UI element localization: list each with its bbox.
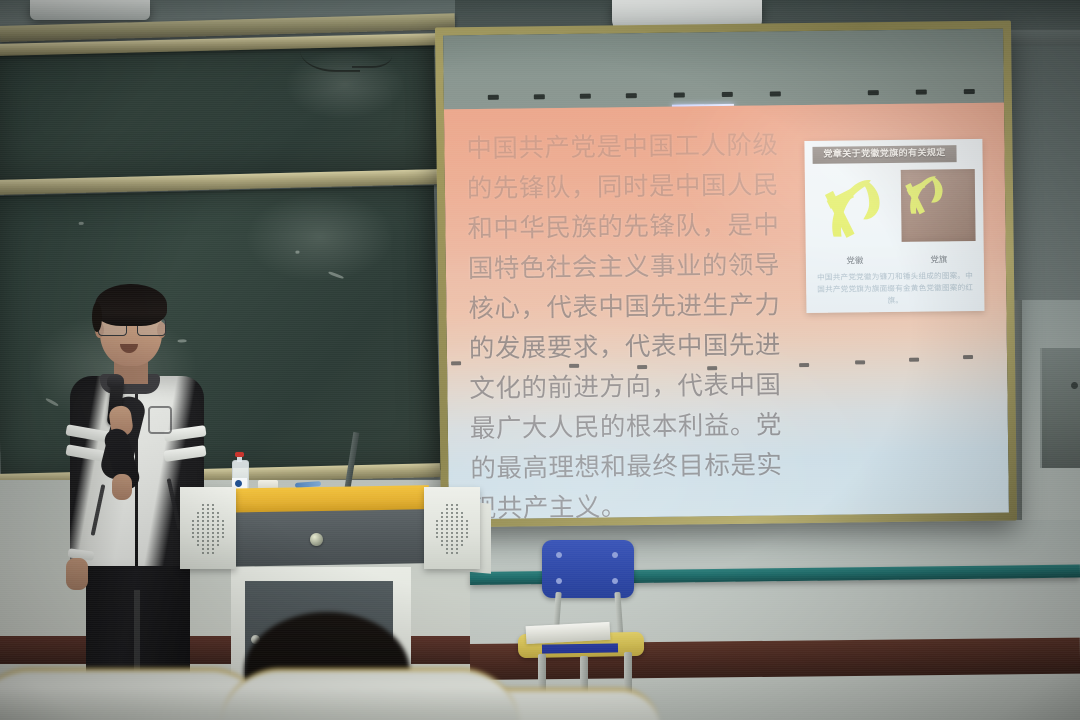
blackboard-upper-panel [0, 41, 437, 180]
podium-lock-icon[interactable] [310, 533, 323, 546]
slide-content: 中国共产党是中国工人阶级的先锋队，同时是中国人民和中华民族的先锋队，是中国特色社… [444, 103, 1009, 520]
presenter-hair [95, 284, 167, 326]
party-emblem-icon [819, 170, 890, 249]
slide-inset-card: 党章关于党徽党旗的有关规定 [804, 139, 984, 313]
party-flag-image [901, 169, 976, 242]
speaker-grille-icon [435, 503, 469, 557]
projection-screen-surface: 中国共产党是中国工人阶级的先锋队，同时是中国人民和中华民族的先锋队，是中国特色社… [443, 29, 1009, 520]
presenter-right-hand-lower [112, 474, 132, 500]
wall-electrical-box [1040, 348, 1080, 468]
slide-inset-title: 党章关于党徽党旗的有关规定 [812, 145, 956, 164]
slide-inset-caption: 中国共产党党徽为镰刀和锤头组成的图案。中国共产党党旗为旗面缀有金黄色党徽图案的红… [815, 270, 975, 308]
chair-backrest [542, 540, 634, 598]
jacket-chest-logo [148, 406, 172, 434]
ceiling-light-fixture-left [30, 0, 150, 20]
wall-box-knob [1071, 382, 1078, 389]
bottle-cap [235, 452, 244, 457]
speaker-grille-icon [191, 503, 225, 557]
presenter-left-hand [66, 558, 88, 590]
podium-speaker-right [424, 487, 480, 569]
microphone-capsule [107, 374, 124, 388]
party-flag-label: 党旗 [902, 253, 976, 266]
slide-paragraph-text: 中国共产党是中国工人阶级的先锋队，同时是中国人民和中华民族的先锋队，是中国特色社… [466, 125, 789, 519]
projection-screen[interactable]: 中国共产党是中国工人阶级的先锋队，同时是中国人民和中华民族的先锋队，是中国特色社… [435, 21, 1017, 528]
student-desk-row [0, 668, 530, 720]
podium-speaker-left [180, 487, 236, 569]
student-desk [220, 668, 520, 720]
classroom-photo: 中国共产党是中国工人阶级的先锋队，同时是中国人民和中华民族的先锋队，是中国特色社… [0, 0, 1080, 720]
party-emblem-label: 党徽 [820, 254, 890, 267]
student-chair[interactable] [520, 540, 650, 700]
blue-folder[interactable] [542, 643, 618, 653]
